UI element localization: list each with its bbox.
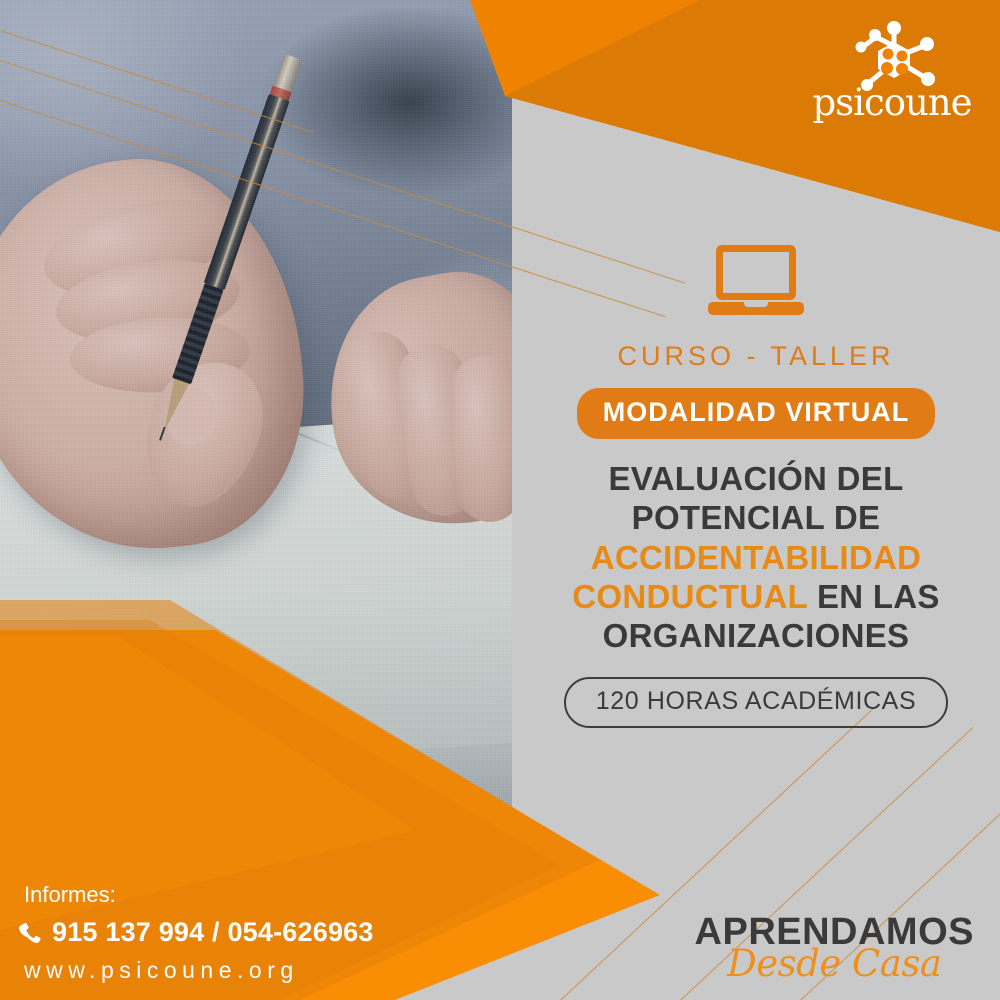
title-highlight-1: ACCIDENTABILIDAD bbox=[591, 539, 922, 576]
modality-badge: MODALIDAD VIRTUAL bbox=[577, 388, 935, 439]
course-info-panel: CURSO - TALLER MODALIDAD VIRTUAL EVALUAC… bbox=[512, 245, 1000, 728]
phone-numbers: 915 137 994 / 054-626963 bbox=[52, 917, 374, 948]
title-highlight-2: CONDUCTUAL bbox=[572, 578, 807, 615]
tagline-block: APRENDAMOS Desde Casa bbox=[695, 913, 974, 982]
website-url[interactable]: www.psicoune.org bbox=[24, 957, 374, 984]
brand-logo[interactable]: psicoune bbox=[808, 20, 976, 130]
title-line-4: ORGANIZACIONES bbox=[524, 616, 988, 655]
phone-icon bbox=[18, 921, 42, 945]
phone-row[interactable]: 915 137 994 / 054-626963 bbox=[18, 917, 374, 948]
brand-wordmark: psicoune bbox=[808, 81, 976, 124]
hours-badge: 120 HORAS ACADÉMICAS bbox=[564, 677, 948, 728]
laptop-screen bbox=[716, 245, 796, 300]
title-line-3: EN LAS bbox=[817, 578, 940, 615]
course-title: EVALUACIÓN DEL POTENCIAL DE ACCIDENTABIL… bbox=[512, 459, 1000, 655]
laptop-notch bbox=[744, 301, 768, 307]
contact-block: Informes: 915 137 994 / 054-626963 www.p… bbox=[18, 882, 374, 984]
tagline-line-2: Desde Casa bbox=[695, 945, 974, 982]
title-line-2: POTENCIAL DE bbox=[524, 498, 988, 537]
title-line-1: EVALUACIÓN DEL bbox=[524, 459, 988, 498]
promotional-poster: psicoune CURSO - TALLER MODALIDAD VIRTUA… bbox=[0, 0, 1000, 1000]
course-kicker: CURSO - TALLER bbox=[512, 341, 1000, 372]
laptop-icon bbox=[708, 245, 804, 315]
contact-label: Informes: bbox=[24, 882, 374, 908]
resting-finger bbox=[450, 354, 512, 523]
